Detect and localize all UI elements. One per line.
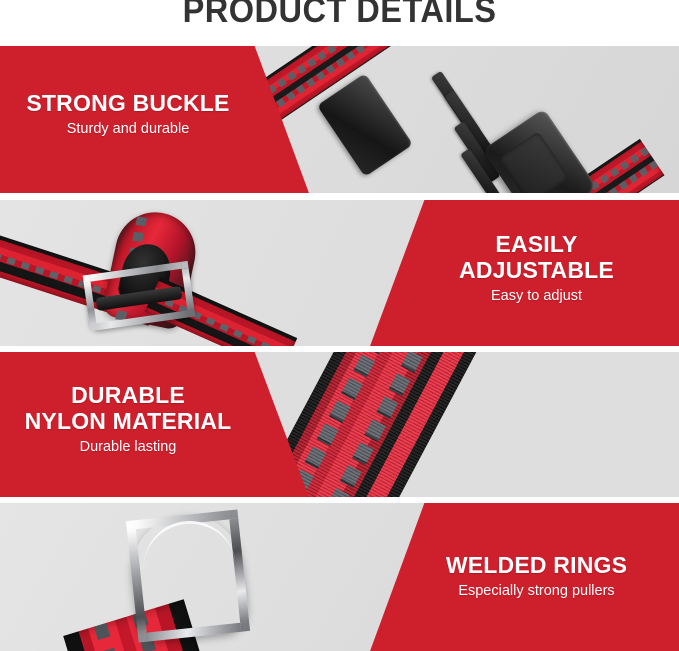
panel-headline: EASILY ADJUSTABLE [404, 232, 669, 284]
panel-subline: Durable lasting [8, 438, 248, 457]
panel-subline: Especially strong pullers [404, 582, 669, 601]
panel-headline: DURABLE NYLON MATERIAL [8, 383, 248, 435]
feature-panel-durable-nylon-material: DURABLE NYLON MATERIAL Durable lasting [0, 352, 679, 497]
caption-welded-rings: WELDED RINGS Especially strong pullers [404, 553, 669, 601]
feature-panel-easily-adjustable: EASILY ADJUSTABLE Easy to adjust [0, 200, 679, 346]
caption-easily-adjustable: EASILY ADJUSTABLE Easy to adjust [404, 232, 669, 305]
caption-strong-buckle: STRONG BUCKLE Sturdy and durable [8, 91, 248, 139]
panel-headline: STRONG BUCKLE [8, 91, 248, 117]
page-title: PRODUCT DETAILS [24, 0, 655, 31]
caption-durable-nylon-material: DURABLE NYLON MATERIAL Durable lasting [8, 383, 248, 456]
panel-subline: Easy to adjust [404, 287, 669, 306]
panel-subline: Sturdy and durable [8, 120, 248, 139]
product-details-infographic: PRODUCT DETAILS STRONG BUCKLE Sturdy and… [0, 0, 679, 651]
feature-panel-welded-rings: WELDED RINGS Especially strong pullers [0, 503, 679, 651]
buckle-male-body [317, 73, 413, 177]
feature-panel-strong-buckle: STRONG BUCKLE Sturdy and durable [0, 46, 679, 193]
panel-headline: WELDED RINGS [404, 553, 669, 579]
